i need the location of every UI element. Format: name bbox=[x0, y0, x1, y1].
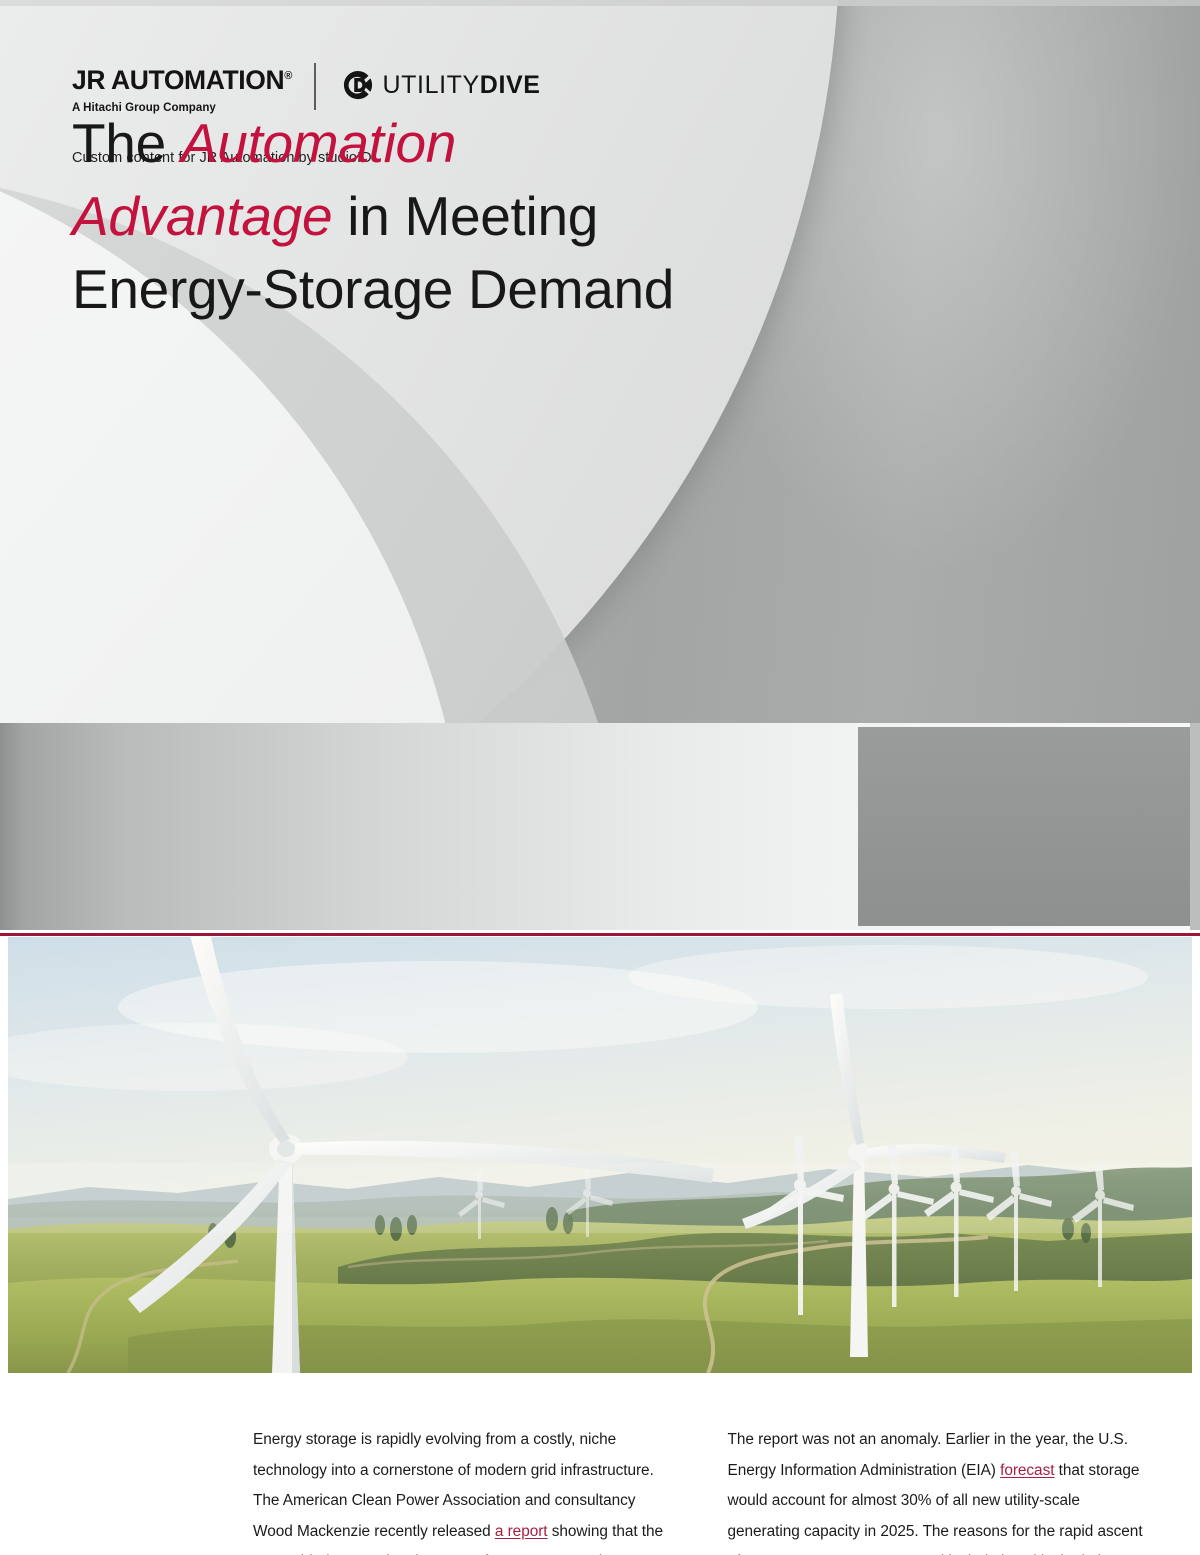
registered-trademark-icon: ® bbox=[284, 70, 292, 82]
utility-dive-wordmark: UTILITYDIVE bbox=[383, 73, 541, 98]
document-page: The Automation Advantage in Meeting Ener… bbox=[0, 0, 1200, 1555]
article-column-right: The report was not an anomaly. Earlier i… bbox=[728, 1425, 1148, 1555]
logo-divider bbox=[314, 63, 316, 110]
inline-link-forecast[interactable]: forecast bbox=[1000, 1462, 1054, 1479]
utility-dive-circle-icon bbox=[343, 70, 373, 100]
jr-automation-wordmark: JR AUTOMATION® bbox=[72, 67, 292, 94]
accent-divider-rule bbox=[0, 933, 1200, 936]
wind-farm-photo-illustration bbox=[8, 937, 1192, 1373]
utility-dive-logo[interactable]: UTILITYDIVE bbox=[343, 70, 541, 100]
inline-link-a-report[interactable]: a report bbox=[495, 1523, 548, 1540]
article-body: Energy storage is rapidly evolving from … bbox=[0, 1373, 1200, 1555]
hero-top-strip bbox=[0, 0, 1200, 6]
article-columns: Energy storage is rapidly evolving from … bbox=[253, 1425, 1147, 1555]
page-title: The Automation Advantage in Meeting Ener… bbox=[72, 107, 712, 326]
logo-band bbox=[0, 723, 1200, 930]
hero-photo bbox=[8, 937, 1192, 1373]
title-segment-1: The bbox=[72, 112, 181, 174]
jr-automation-name: JR AUTOMATION bbox=[72, 65, 284, 95]
article-column-left: Energy storage is rapidly evolving from … bbox=[253, 1425, 673, 1555]
utility-dive-word-dive: DIVE bbox=[480, 71, 541, 99]
band-right-edge bbox=[1190, 723, 1200, 930]
utility-dive-word-utility: UTILITY bbox=[383, 71, 480, 99]
band-right-panel bbox=[858, 727, 1200, 926]
